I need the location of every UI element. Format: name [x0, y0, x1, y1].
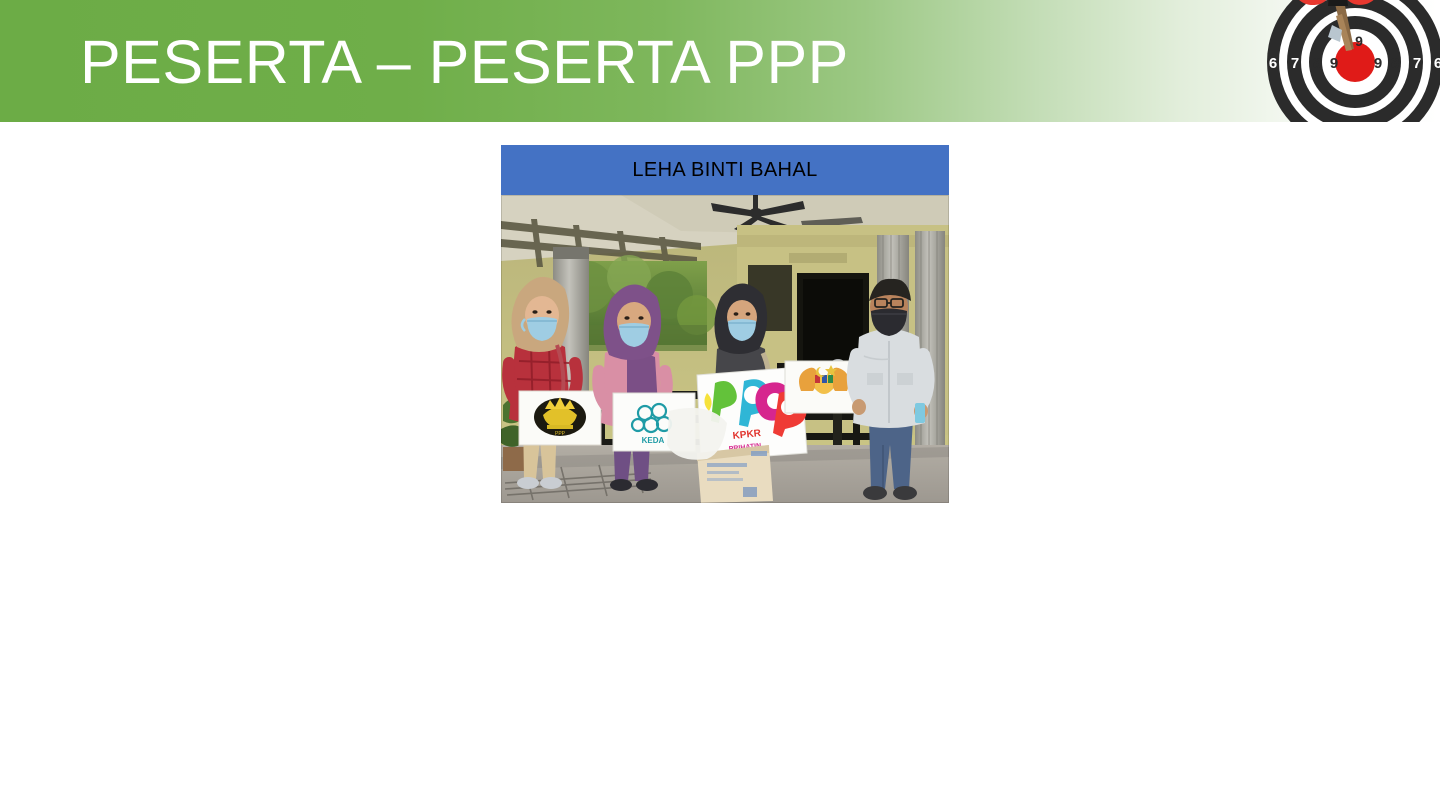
svg-text:KEDA: KEDA [642, 436, 665, 445]
svg-text:8: 8 [1313, 55, 1321, 72]
slide-canvas: PESERTA – PESERTA PPP 6 [0, 0, 1440, 810]
participant-name-bar: LEHA BINTI BAHAL [501, 145, 949, 195]
dartboard-with-dart-icon: 6 7 8 9 9 8 7 6 6 7 [1262, 0, 1440, 138]
svg-text:8: 8 [1355, 16, 1363, 32]
svg-text:7: 7 [1413, 55, 1421, 72]
slide-title-banner: PESERTA – PESERTA PPP [0, 0, 1440, 122]
svg-text:9: 9 [1330, 55, 1338, 72]
participant-card: LEHA BINTI BAHAL [501, 145, 949, 503]
participant-name: LEHA BINTI BAHAL [632, 159, 817, 182]
svg-text:9: 9 [1374, 55, 1382, 72]
svg-text:7: 7 [1291, 55, 1299, 72]
svg-text:9: 9 [1355, 33, 1363, 49]
svg-text:8: 8 [1391, 55, 1399, 72]
svg-text:6: 6 [1269, 55, 1277, 72]
participant-photo: PPP [501, 195, 949, 503]
svg-text:6: 6 [1434, 55, 1440, 72]
svg-text:PPP: PPP [555, 431, 566, 437]
page-title: PESERTA – PESERTA PPP [80, 22, 849, 102]
